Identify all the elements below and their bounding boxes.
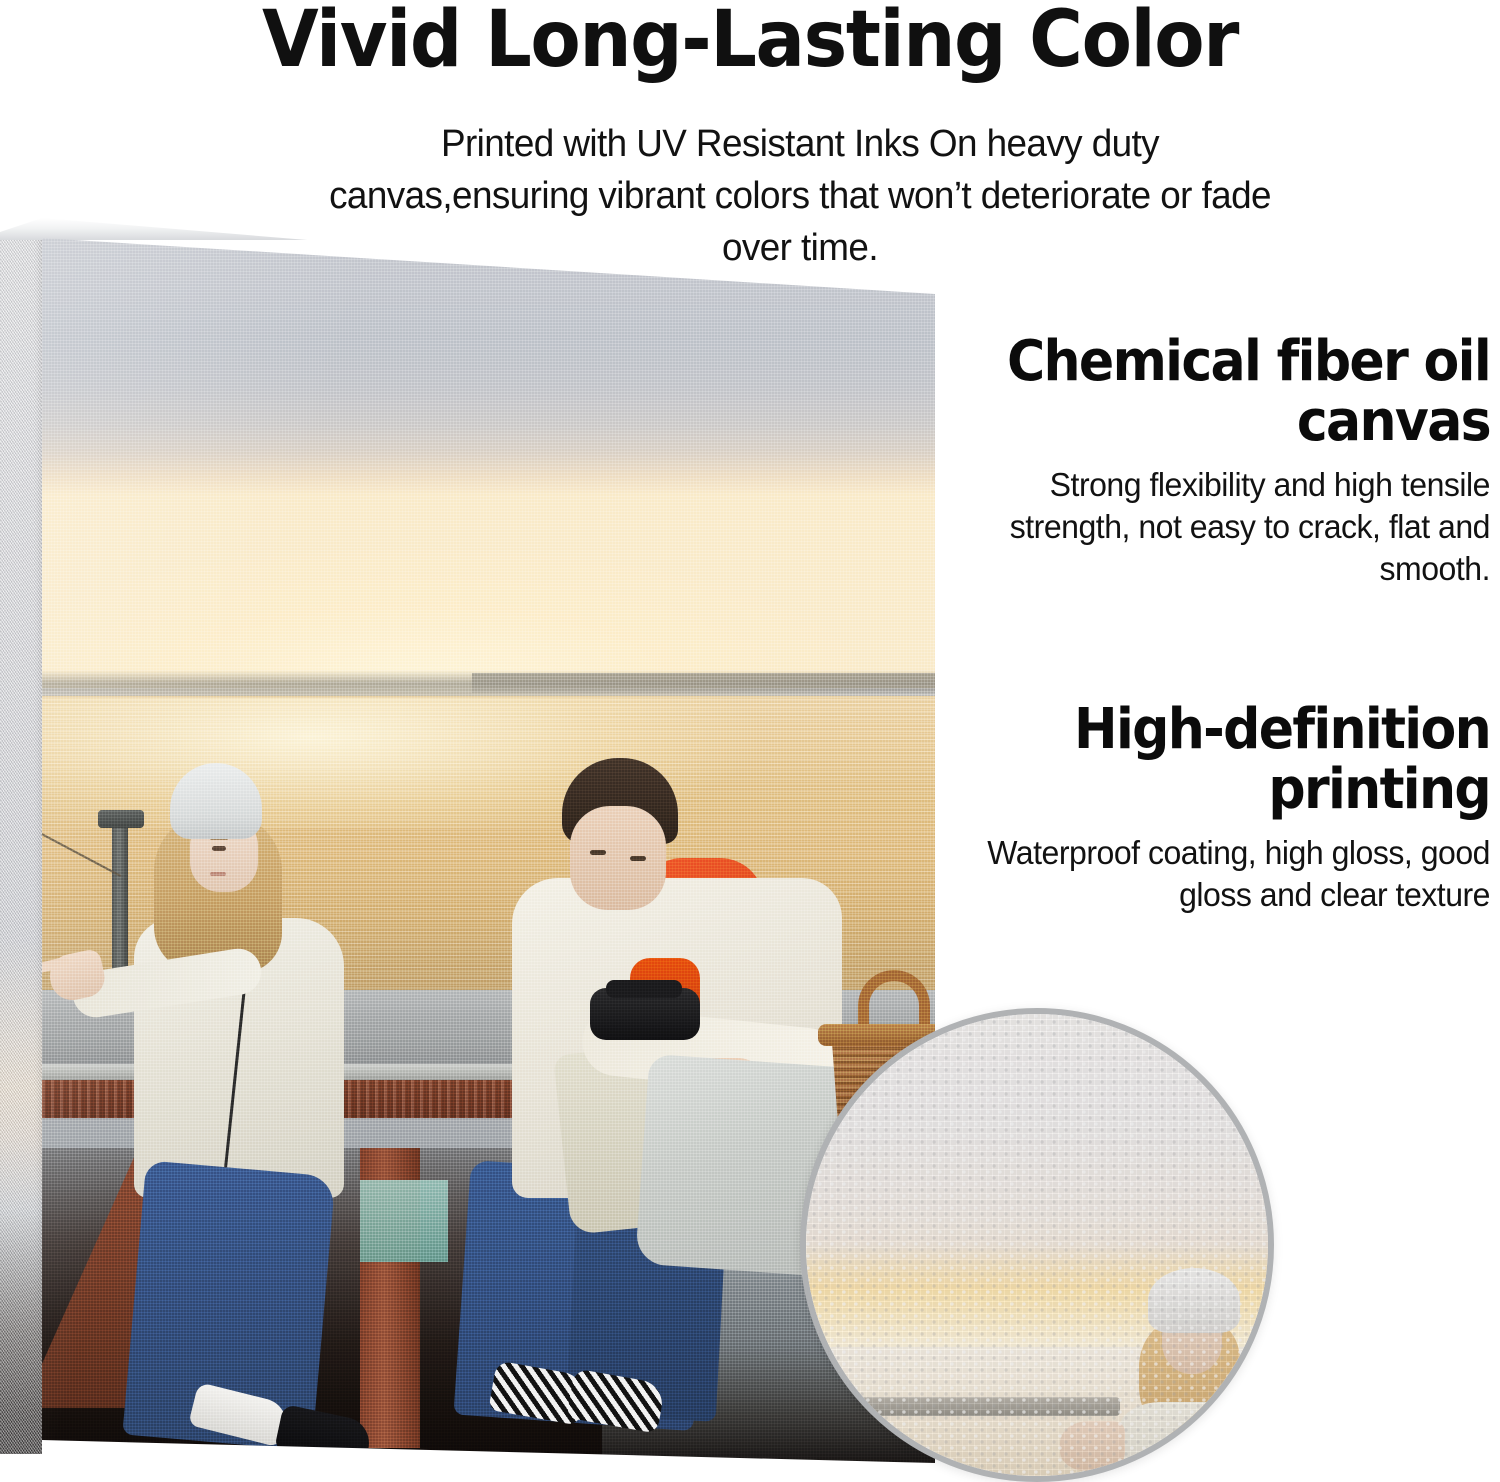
page-title: Vivid Long-Lasting Color xyxy=(45,0,1455,82)
canvas-print-product xyxy=(0,218,935,1463)
man-eye-left xyxy=(590,850,606,855)
feature-description: Waterproof coating, high gloss, good glo… xyxy=(966,832,1490,916)
header-section: Vivid Long-Lasting Color Printed with UV… xyxy=(0,0,1500,225)
feature-chemical-fiber-oil-canvas: Chemical fiber oil canvas Strong flexibi… xyxy=(950,332,1490,590)
canvas-top-bevel xyxy=(0,218,935,240)
magnifier-pointing-hand xyxy=(1060,1421,1125,1472)
distant-shoreline-right xyxy=(472,673,935,693)
magnifier-woman-jacket xyxy=(1120,1402,1259,1482)
canvas-wrapped-edge xyxy=(0,232,42,1454)
woman-eye xyxy=(212,846,226,851)
pier-teal-panel xyxy=(360,1180,448,1262)
magnifier-content xyxy=(806,1014,1268,1476)
mooring-post-head xyxy=(98,810,144,828)
man-face xyxy=(570,806,666,910)
man-eye-right xyxy=(630,856,646,861)
canvas-texture-magnifier xyxy=(800,1008,1274,1482)
feature-description: Strong flexibility and high tensile stre… xyxy=(966,464,1490,590)
binoculars xyxy=(590,988,700,1040)
magnifier-pier-rail xyxy=(843,1397,1120,1415)
woman-mouth xyxy=(210,872,226,876)
feature-title: High-definition printing xyxy=(988,700,1490,820)
feature-high-definition-printing: High-definition printing Waterproof coat… xyxy=(950,700,1490,916)
feature-title: Chemical fiber oil canvas xyxy=(988,332,1490,452)
mooring-post xyxy=(112,818,128,978)
magnifier-woman-beanie xyxy=(1148,1268,1240,1333)
canvas-front-face xyxy=(42,218,935,1463)
